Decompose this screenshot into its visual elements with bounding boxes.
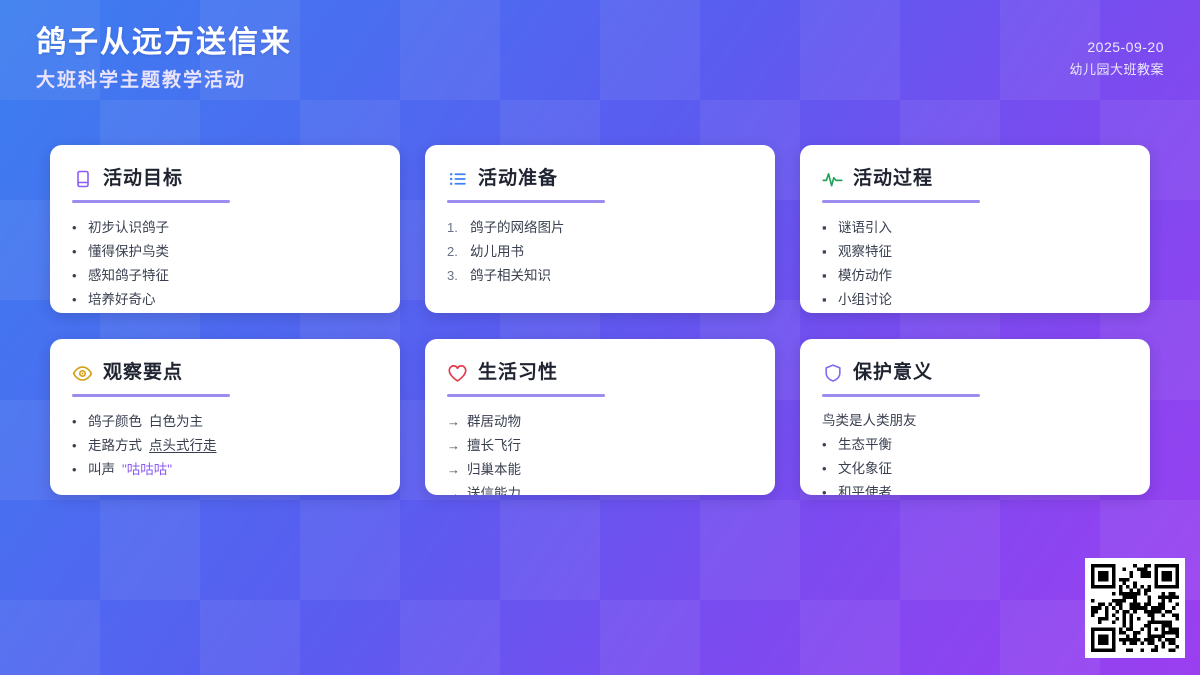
list-bullet-marker: • (822, 481, 831, 495)
list-item-label: 鸽子颜色 (88, 411, 142, 432)
card-header: 保护意义 (822, 359, 1128, 387)
list-item-label: 鸽子的网络图片 (470, 216, 565, 240)
list-bullet-marker: • (72, 458, 81, 482)
page-subtitle: 大班科学主题教学活动 (36, 64, 292, 98)
list-item: •和平使者 (822, 481, 1128, 495)
list-number-marker: 3. (447, 264, 463, 288)
card-item-list: •初步认识鸽子•懂得保护鸟类•感知鸽子特征•培养好奇心 (72, 216, 378, 312)
list-item: 1.鸽子的网络图片 (447, 216, 753, 240)
list-bullet-marker: → (447, 434, 460, 458)
card-header: 观察要点 (72, 359, 378, 387)
list-item: →归巢本能 (447, 458, 753, 482)
list-bullet-marker: • (72, 288, 81, 312)
card-lead-text: 鸟类是人类朋友 (822, 410, 1128, 432)
list-item-label: 和平使者 (838, 482, 892, 495)
list-icon (447, 169, 468, 190)
card-item-list: •鸽子颜色 白色为主•走路方式 点头式行走•叫声 "咕咕咕" (72, 410, 378, 482)
card-title-underline (447, 394, 605, 397)
list-item-label: 初步认识鸽子 (88, 216, 169, 240)
list-item: →擅长飞行 (447, 434, 753, 458)
list-item: •感知鸽子特征 (72, 264, 378, 288)
list-item: →送信能力 (447, 482, 753, 495)
list-item: •文化象征 (822, 457, 1128, 481)
list-item-label: 群居动物 (467, 410, 521, 434)
list-item-label: 生态平衡 (838, 434, 892, 455)
list-item-label: 懂得保护鸟类 (88, 240, 169, 264)
card-activity-process: 活动过程▪谜语引入▪观察特征▪模仿动作▪小组讨论 (800, 145, 1150, 313)
list-item: •懂得保护鸟类 (72, 240, 378, 264)
card-grid: 活动目标•初步认识鸽子•懂得保护鸟类•感知鸽子特征•培养好奇心活动准备1.鸽子的… (50, 145, 1150, 495)
list-item-label: 送信能力 (467, 482, 521, 495)
list-bullet-marker: • (822, 457, 831, 481)
list-item: •初步认识鸽子 (72, 216, 378, 240)
card-header: 活动过程 (822, 165, 1128, 193)
page-header: 鸽子从远方送信来 大班科学主题教学活动 2025-09-20 幼儿园大班教案 (0, 0, 1200, 130)
list-item: ▪模仿动作 (822, 264, 1128, 288)
card-title-underline (447, 200, 605, 203)
header-date: 2025-09-20 (1069, 35, 1164, 59)
card-protection-meaning: 保护意义鸟类是人类朋友•生态平衡•文化象征•和平使者 (800, 339, 1150, 495)
card-header: 活动准备 (447, 165, 753, 193)
card-title-underline (72, 394, 230, 397)
list-bullet-marker: → (447, 482, 460, 495)
list-item-value: "咕咕咕" (122, 459, 172, 480)
list-bullet-marker: • (72, 434, 81, 458)
card-living-habits: 生活习性→群居动物→擅长飞行→归巢本能→送信能力 (425, 339, 775, 495)
list-bullet-marker: ▪ (822, 264, 831, 288)
list-item: •培养好奇心 (72, 288, 378, 312)
list-item-label: 谜语引入 (838, 216, 892, 240)
list-item: •鸽子颜色 白色为主 (72, 410, 378, 434)
qr-code-canvas (1091, 564, 1179, 652)
card-title: 活动准备 (478, 166, 558, 192)
list-item-label: 文化象征 (838, 458, 892, 479)
card-title: 生活习性 (478, 360, 558, 386)
card-activity-goals: 活动目标•初步认识鸽子•懂得保护鸟类•感知鸽子特征•培养好奇心 (50, 145, 400, 313)
list-bullet-marker: → (447, 458, 460, 482)
card-observation-points: 观察要点•鸽子颜色 白色为主•走路方式 点头式行走•叫声 "咕咕咕" (50, 339, 400, 495)
list-item-label: 鸽子相关知识 (470, 264, 551, 288)
card-body: 1.鸽子的网络图片2.幼儿用书3.鸽子相关知识 (447, 216, 753, 288)
title-block: 鸽子从远方送信来 大班科学主题教学活动 (36, 22, 292, 98)
list-item: •叫声 "咕咕咕" (72, 458, 378, 482)
list-bullet-marker: • (72, 264, 81, 288)
activity-pulse-icon (822, 169, 843, 190)
list-item-label: 小组讨论 (838, 288, 892, 312)
list-item: 2.幼儿用书 (447, 240, 753, 264)
list-bullet-marker: ▪ (822, 216, 831, 240)
card-title: 观察要点 (103, 360, 183, 386)
list-item: ▪小组讨论 (822, 288, 1128, 312)
card-item-list: •生态平衡•文化象征•和平使者 (822, 433, 1128, 495)
list-item: •生态平衡 (822, 433, 1128, 457)
list-bullet-marker: • (72, 216, 81, 240)
list-bullet-marker: ▪ (822, 288, 831, 312)
eye-icon (72, 363, 93, 384)
list-bullet-marker: ▪ (822, 240, 831, 264)
card-title: 活动目标 (103, 166, 183, 192)
heart-icon (447, 363, 468, 384)
card-body: ▪谜语引入▪观察特征▪模仿动作▪小组讨论 (822, 216, 1128, 312)
list-bullet-marker: • (822, 433, 831, 457)
list-item: ▪观察特征 (822, 240, 1128, 264)
card-header: 生活习性 (447, 359, 753, 387)
list-number-marker: 1. (447, 216, 463, 240)
list-item-label: 培养好奇心 (88, 288, 156, 312)
card-body: 鸟类是人类朋友•生态平衡•文化象征•和平使者 (822, 410, 1128, 495)
shield-icon (822, 363, 843, 384)
list-item: ▪谜语引入 (822, 216, 1128, 240)
list-number-marker: 2. (447, 240, 463, 264)
list-bullet-marker: • (72, 410, 81, 434)
list-bullet-marker: → (447, 410, 460, 434)
list-item-value: 白色为主 (149, 411, 203, 432)
header-meta: 2025-09-20 幼儿园大班教案 (1069, 22, 1164, 81)
list-item-label: 擅长飞行 (467, 434, 521, 458)
card-item-list: 1.鸽子的网络图片2.幼儿用书3.鸽子相关知识 (447, 216, 753, 288)
card-body: →群居动物→擅长飞行→归巢本能→送信能力 (447, 410, 753, 495)
card-item-list: ▪谜语引入▪观察特征▪模仿动作▪小组讨论 (822, 216, 1128, 312)
list-bullet-marker: • (72, 240, 81, 264)
card-body: •初步认识鸽子•懂得保护鸟类•感知鸽子特征•培养好奇心 (72, 216, 378, 312)
list-item-label: 幼儿用书 (470, 240, 524, 264)
book-icon (72, 169, 93, 190)
list-item-label: 观察特征 (838, 240, 892, 264)
list-item-label: 感知鸽子特征 (88, 264, 169, 288)
card-title-underline (822, 200, 980, 203)
list-item-label: 走路方式 (88, 435, 142, 456)
list-item-label: 模仿动作 (838, 264, 892, 288)
card-activity-prep: 活动准备1.鸽子的网络图片2.幼儿用书3.鸽子相关知识 (425, 145, 775, 313)
card-body: •鸽子颜色 白色为主•走路方式 点头式行走•叫声 "咕咕咕" (72, 410, 378, 482)
header-doc-type: 幼儿园大班教案 (1069, 59, 1164, 81)
list-item-label: 归巢本能 (467, 458, 521, 482)
list-item: →群居动物 (447, 410, 753, 434)
qr-code[interactable] (1085, 558, 1185, 658)
list-item: 3.鸽子相关知识 (447, 264, 753, 288)
card-title: 保护意义 (853, 360, 933, 386)
list-item-value: 点头式行走 (149, 435, 217, 456)
card-header: 活动目标 (72, 165, 378, 193)
list-item-label: 叫声 (88, 459, 115, 480)
list-item: •走路方式 点头式行走 (72, 434, 378, 458)
card-title: 活动过程 (853, 166, 933, 192)
card-item-list: →群居动物→擅长飞行→归巢本能→送信能力 (447, 410, 753, 495)
card-title-underline (72, 200, 230, 203)
card-title-underline (822, 394, 980, 397)
page-title: 鸽子从远方送信来 (36, 22, 292, 64)
